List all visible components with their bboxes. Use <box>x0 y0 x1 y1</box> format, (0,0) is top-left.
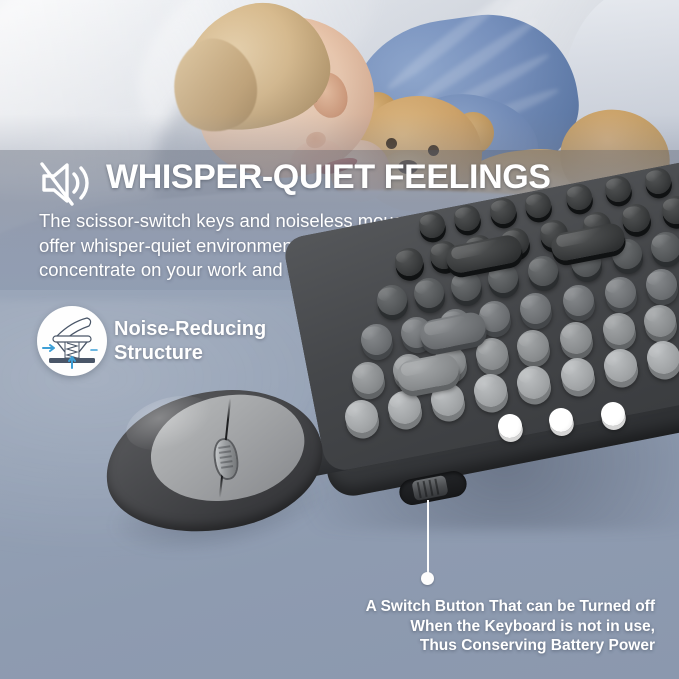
callout-leader-line <box>427 500 429 574</box>
caption-line-1: A Switch Button That can be Turned off <box>235 597 655 617</box>
badge-label-line-2: Structure <box>114 341 266 365</box>
caption-line-3: Thus Conserving Battery Power <box>235 636 655 656</box>
callout-caption: A Switch Button That can be Turned off W… <box>235 597 655 656</box>
noise-reducing-label: Noise-Reducing Structure <box>114 317 266 365</box>
callout-dot <box>421 572 434 585</box>
noise-reducing-badge <box>37 306 107 376</box>
caption-line-2: When the Keyboard is not in use, <box>235 617 655 637</box>
product-feature-banner: WHISPER-QUIET FEELINGS The scissor-switc… <box>0 0 679 679</box>
scissor-switch-structure-icon <box>37 306 107 376</box>
mute-speaker-icon <box>38 158 100 208</box>
page-title: WHISPER-QUIET FEELINGS <box>106 160 551 194</box>
badge-label-line-1: Noise-Reducing <box>114 317 266 341</box>
